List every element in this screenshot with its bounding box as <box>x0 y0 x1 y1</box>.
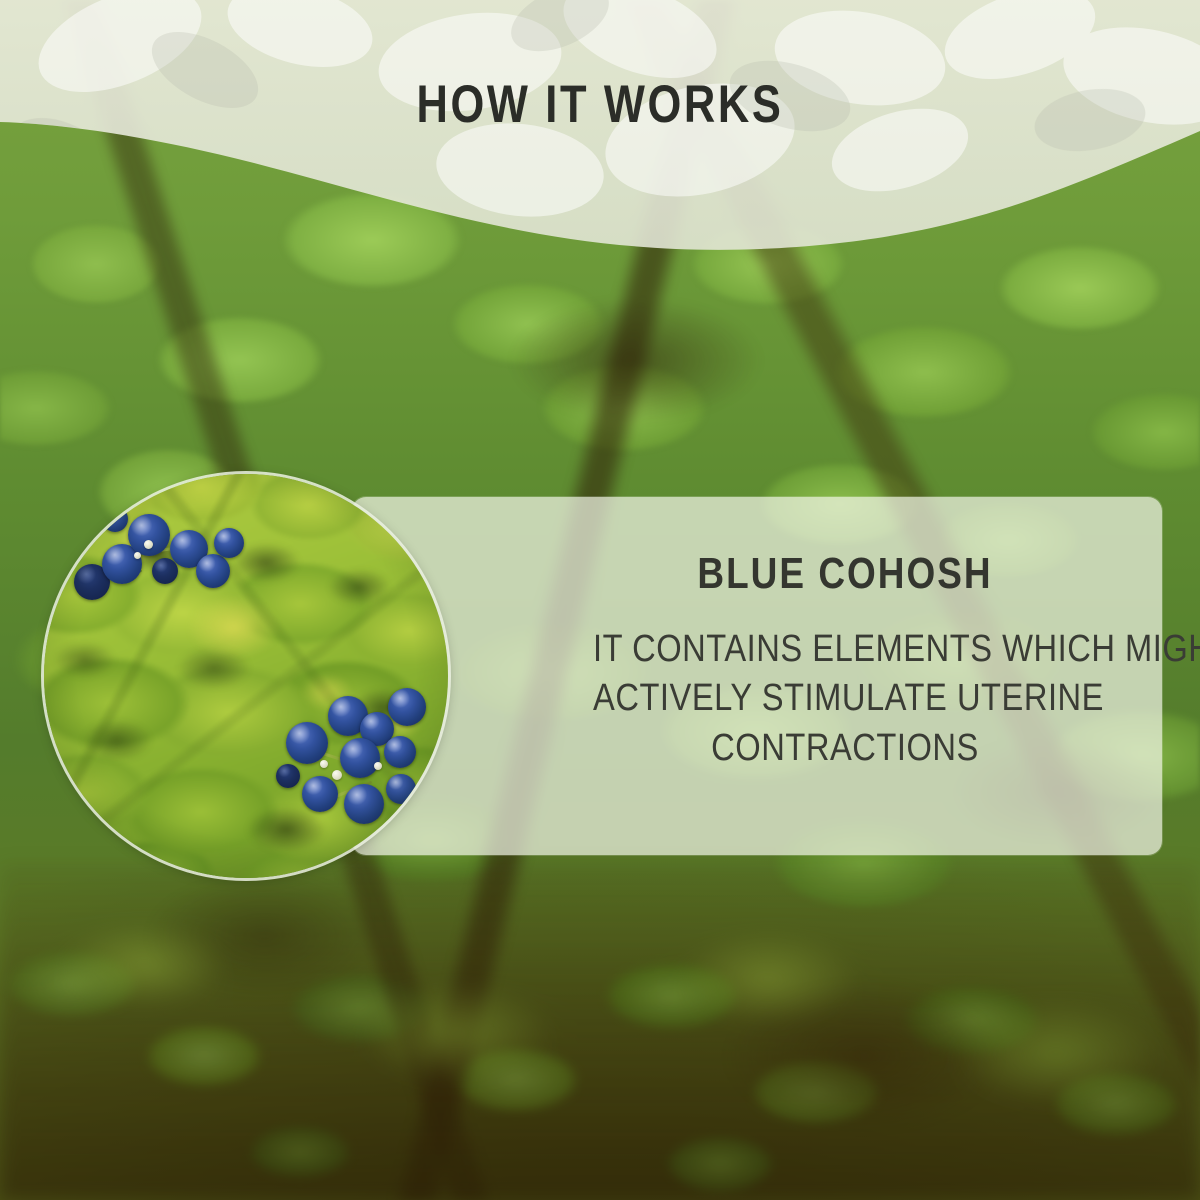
page-title: HOW IT WORKS <box>108 74 1092 135</box>
info-card-text-block: BLUE COHOSH IT CONTAINS ELEMENTS WHICH M… <box>552 549 1138 773</box>
description-line-1: IT CONTAINS ELEMENTS WHICH MIGHT <box>593 625 1097 674</box>
bottom-blur-overlay <box>0 864 1200 1200</box>
ingredient-name: BLUE COHOSH <box>599 549 1091 599</box>
description-line-2: ACTIVELY STIMULATE UTERINE <box>593 674 1097 723</box>
infographic-canvas: HOW IT WORKS BLUE COHOSH IT CONTAINS ELE… <box>0 0 1200 1200</box>
blue-cohosh-circle-photo <box>44 474 448 878</box>
description-line-3: CONTRACTIONS <box>593 724 1097 773</box>
info-card: BLUE COHOSH IT CONTAINS ELEMENTS WHICH M… <box>352 497 1162 855</box>
ingredient-description: IT CONTAINS ELEMENTS WHICH MIGHT ACTIVEL… <box>593 625 1097 773</box>
circle-vignette <box>44 474 448 878</box>
circle-photo-inner <box>44 474 448 878</box>
